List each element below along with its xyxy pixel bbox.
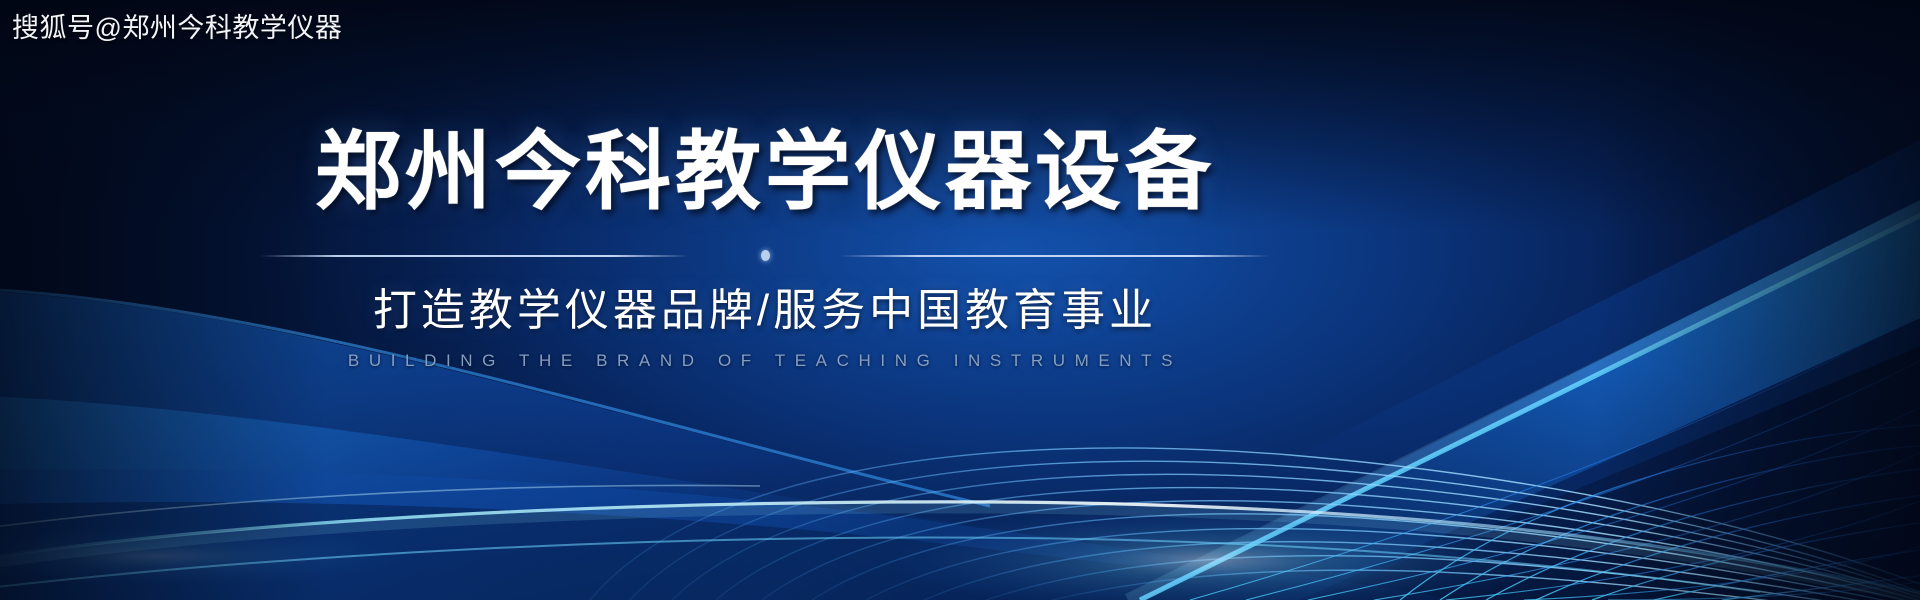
divider-dot-icon (761, 250, 770, 261)
subtitle-english: BUILDING THE BRAND OF TEACHING INSTRUMEN… (348, 351, 1182, 371)
hero-content: 郑州今科教学仪器设备 打造教学仪器品牌/服务中国教育事业 BUILDING TH… (0, 0, 1530, 600)
subtitle-chinese: 打造教学仪器品牌/服务中国教育事业 (373, 285, 1157, 338)
banner-hero: 搜狐号@郑州今科教学仪器 郑州今科教学仪器设备 打造教学仪器品牌/服务中国教育事… (0, 0, 1920, 600)
divider-rule-left (260, 255, 690, 257)
watermark-text: 搜狐号@郑州今科教学仪器 (12, 10, 342, 46)
divider (260, 249, 1270, 263)
divider-rule-right (840, 255, 1270, 257)
page-title: 郑州今科教学仪器设备 (315, 126, 1215, 219)
